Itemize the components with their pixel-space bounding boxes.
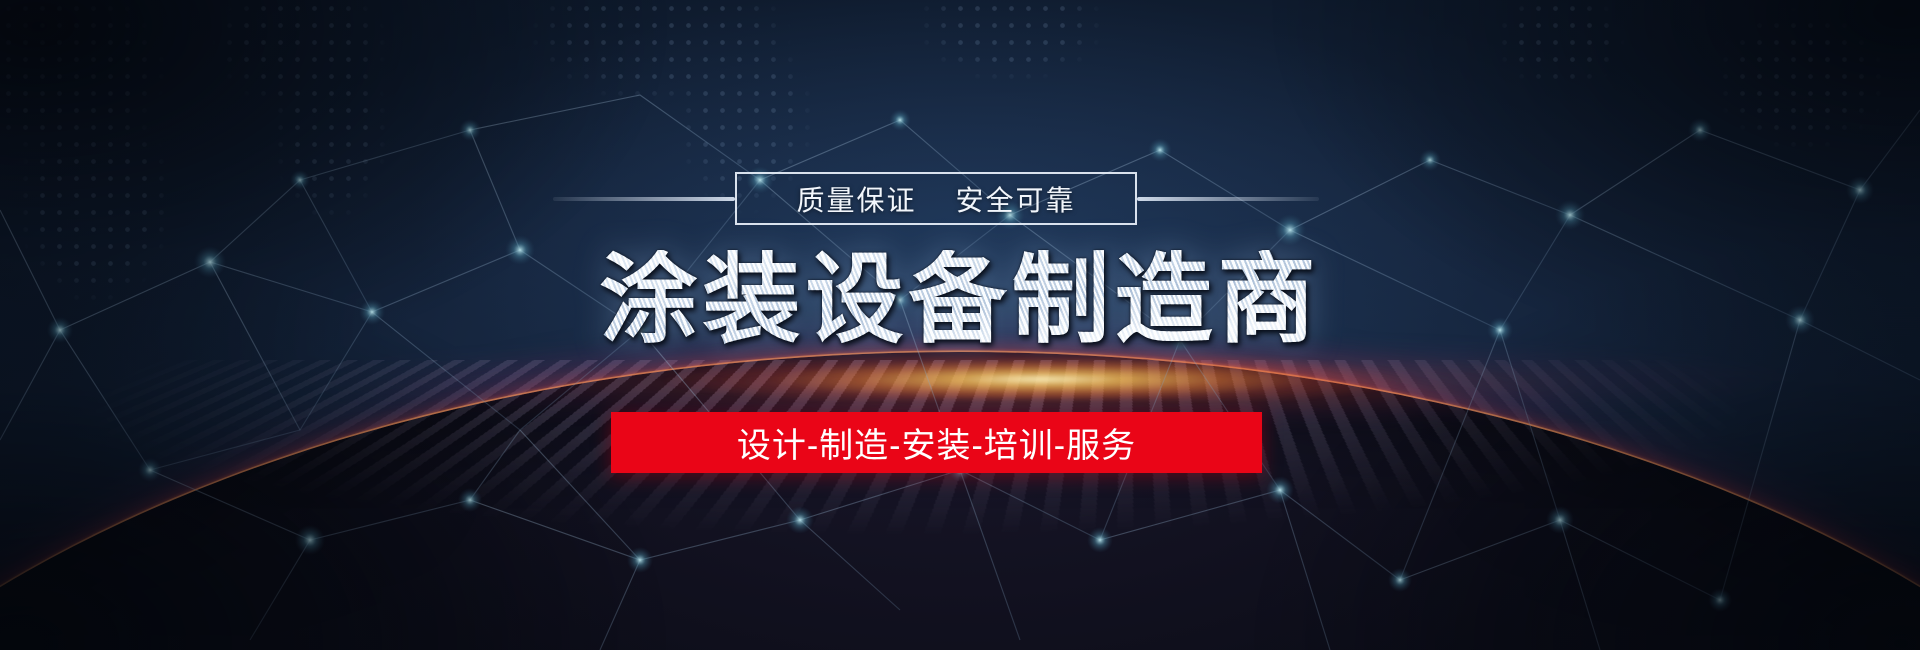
service-bar: 设计-制造-安装-培训-服务: [611, 412, 1262, 473]
tagline-box: 质量保证 安全可靠: [735, 172, 1137, 225]
decorative-rule-left: [553, 197, 735, 201]
service-bar-text: 设计-制造-安装-培训-服务: [737, 418, 1136, 467]
headline-title: 涂装设备制造商: [0, 250, 1920, 348]
banner-content: 质量保证 安全可靠 涂装设备制造商 涂装设备制造商 设计-制造-安装-培训-服务: [0, 0, 1920, 650]
tagline-text: 质量保证 安全可靠: [796, 179, 1075, 219]
tagline-row: 质量保证 安全可靠: [0, 172, 1920, 226]
hero-banner: 质量保证 安全可靠 涂装设备制造商 涂装设备制造商 设计-制造-安装-培训-服务: [0, 0, 1920, 650]
decorative-rule-right: [1137, 197, 1319, 201]
